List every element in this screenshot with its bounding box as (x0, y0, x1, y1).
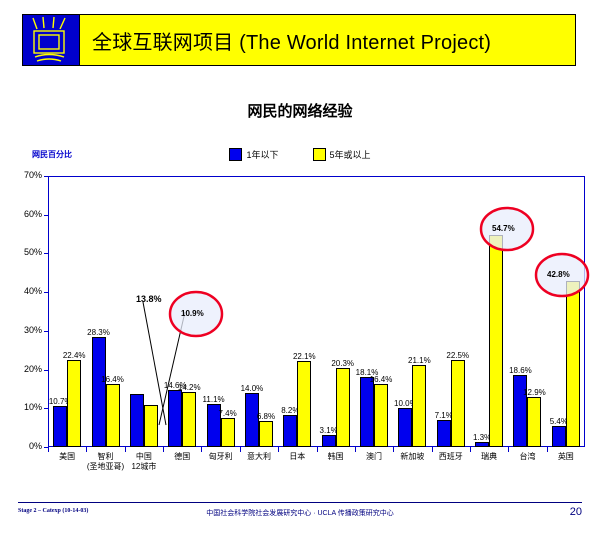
page-title: 全球互联网项目 (The World Internet Project) (92, 26, 491, 55)
bar-group: 18.1%16.4% (355, 176, 393, 447)
bar-5-years-or-more: 22.4% (67, 360, 81, 447)
banner-text-area: 全球互联网项目 (The World Internet Project) (80, 15, 575, 65)
bar-under-1-year: 13.8% (130, 394, 144, 447)
bar-5-years-or-more: 7.4% (221, 418, 235, 447)
y-axis-title: 网民百分比 (32, 149, 72, 160)
y-axis-tick-label: 70% (12, 170, 42, 180)
x-axis-label: 新加坡 (400, 452, 424, 462)
footer-page-number: 20 (570, 506, 582, 518)
bar-under-1-year: 1.3% (475, 442, 489, 447)
bar-under-1-year: 14.6% (168, 390, 182, 447)
bar-group: 14.6%14.2% (163, 176, 201, 447)
bar-value-label: 14.0% (241, 384, 264, 393)
bar-groups: 10.7%22.4%28.3%16.4%13.8%10.9%14.6%14.2%… (48, 176, 585, 447)
bar-under-1-year: 7.1% (437, 420, 451, 447)
bar-value-label: 28.3% (87, 328, 110, 337)
monitor-screen-icon-svg (23, 15, 79, 65)
x-axis-label: 美国 (59, 452, 75, 462)
bar-group: 28.3%16.4% (86, 176, 124, 447)
bar-5-years-or-more: 10.9% (144, 405, 158, 447)
x-axis-label: 日本 (289, 452, 305, 462)
bar-under-1-year: 3.1% (322, 435, 336, 447)
x-axis-label: 西班牙 (439, 452, 463, 462)
bar-group: 5.4%42.8% (547, 176, 585, 447)
legend-item-5-years-or-more: 5年或以上 (313, 148, 371, 161)
bar-under-1-year: 28.3% (92, 337, 106, 447)
bar-5-years-or-more: 16.4% (374, 384, 388, 447)
legend-swatch-blue-icon (229, 148, 242, 161)
chart-plot-area: 0%10%20%30%40%50%60%70% 10.7%22.4%28.3%1… (48, 176, 585, 447)
x-axis-labels: 美国智利(圣地亚哥)中国12城市德国匈牙利意大利日本韩国澳门新加坡西班牙瑞典台湾… (48, 452, 585, 496)
bar-under-1-year: 18.6% (513, 375, 527, 447)
bar-value-label: 11.1% (203, 395, 225, 404)
footer-divider (18, 502, 582, 503)
bar-5-years-or-more: 14.2% (182, 392, 196, 447)
legend-label-5-years-or-more: 5年或以上 (330, 148, 371, 161)
x-axis-label: 德国 (174, 452, 190, 462)
bar-5-years-or-more: 20.3% (336, 368, 350, 447)
legend-swatch-yellow-icon (313, 148, 326, 161)
bar-group: 10.7%22.4% (48, 176, 86, 447)
bar-value-label: 21.1% (408, 356, 431, 365)
x-axis-label: 台湾 (519, 452, 535, 462)
chart-legend: 1年以下 5年或以上 (0, 148, 600, 161)
bar-group: 11.1%7.4% (201, 176, 239, 447)
chart-title: 网民的网络经验 (0, 100, 600, 121)
bar-under-1-year: 8.2% (283, 415, 297, 447)
y-axis-tick-label: 0% (12, 441, 42, 451)
y-axis-tick-label: 20% (12, 364, 42, 374)
legend-label-under-1-year: 1年以下 (246, 148, 278, 161)
bar-5-years-or-more: 54.7% (489, 235, 503, 447)
x-axis-label: 澳门 (366, 452, 382, 462)
bar-group: 8.2%22.1% (278, 176, 316, 447)
bar-value-label: 22.4% (63, 351, 86, 360)
bar-value-label: 18.6% (509, 366, 532, 375)
bar-under-1-year: 10.7% (53, 406, 67, 447)
bar-5-years-or-more: 42.8% (566, 281, 580, 447)
bar-value-label: 22.5% (446, 351, 469, 360)
bar-under-1-year: 5.4% (552, 426, 566, 447)
bar-value-label: 12.9% (523, 388, 546, 397)
bar-5-years-or-more: 6.8% (259, 421, 273, 447)
bar-5-years-or-more: 21.1% (412, 365, 426, 447)
bar-value-label: 16.4% (370, 375, 393, 384)
bar-group: 7.1%22.5% (432, 176, 470, 447)
bar-value-label: 14.2% (178, 383, 201, 392)
x-axis-label: 中国12城市 (131, 452, 156, 472)
bar-value-label: 7.4% (218, 409, 236, 418)
bar-group: 3.1%20.3% (317, 176, 355, 447)
x-axis-label: 英国 (558, 452, 574, 462)
bar-group: 13.8%10.9% (125, 176, 163, 447)
legend-item-under-1-year: 1年以下 (229, 148, 278, 161)
monitor-screen-icon (23, 15, 80, 65)
bar-value-label: 20.3% (331, 359, 354, 368)
y-axis-tick-label: 50% (12, 247, 42, 257)
bar-group: 14.0%6.8% (240, 176, 278, 447)
bar-5-years-or-more: 22.1% (297, 361, 311, 447)
x-axis-label: 匈牙利 (209, 452, 233, 462)
footer-center-text: 中国社会科学院社会发展研究中心 · UCLA 传播政策研究中心 (0, 508, 600, 518)
bar-5-years-or-more: 22.5% (451, 360, 465, 447)
bar-under-1-year: 18.1% (360, 377, 374, 447)
title-banner: 全球互联网项目 (The World Internet Project) (22, 14, 576, 66)
bar-5-years-or-more: 12.9% (527, 397, 541, 447)
bar-group: 1.3%54.7% (470, 176, 508, 447)
bar-value-label: 6.8% (257, 412, 275, 421)
y-axis-tick-label: 60% (12, 209, 42, 219)
x-axis-label: 意大利 (247, 452, 271, 462)
bar-value-label: 16.4% (101, 375, 124, 384)
bar-value-label: 22.1% (293, 352, 316, 361)
x-axis-label: 韩国 (328, 452, 344, 462)
bar-5-years-or-more: 16.4% (106, 384, 120, 447)
bar-under-1-year: 10.0% (398, 408, 412, 447)
y-axis-tick-label: 10% (12, 402, 42, 412)
x-axis-label: 智利(圣地亚哥) (87, 452, 124, 472)
x-axis-label: 瑞典 (481, 452, 497, 462)
y-axis-tick-label: 40% (12, 286, 42, 296)
bar-group: 18.6%12.9% (508, 176, 546, 447)
y-axis-tick-label: 30% (12, 325, 42, 335)
bar-group: 10.0%21.1% (393, 176, 431, 447)
